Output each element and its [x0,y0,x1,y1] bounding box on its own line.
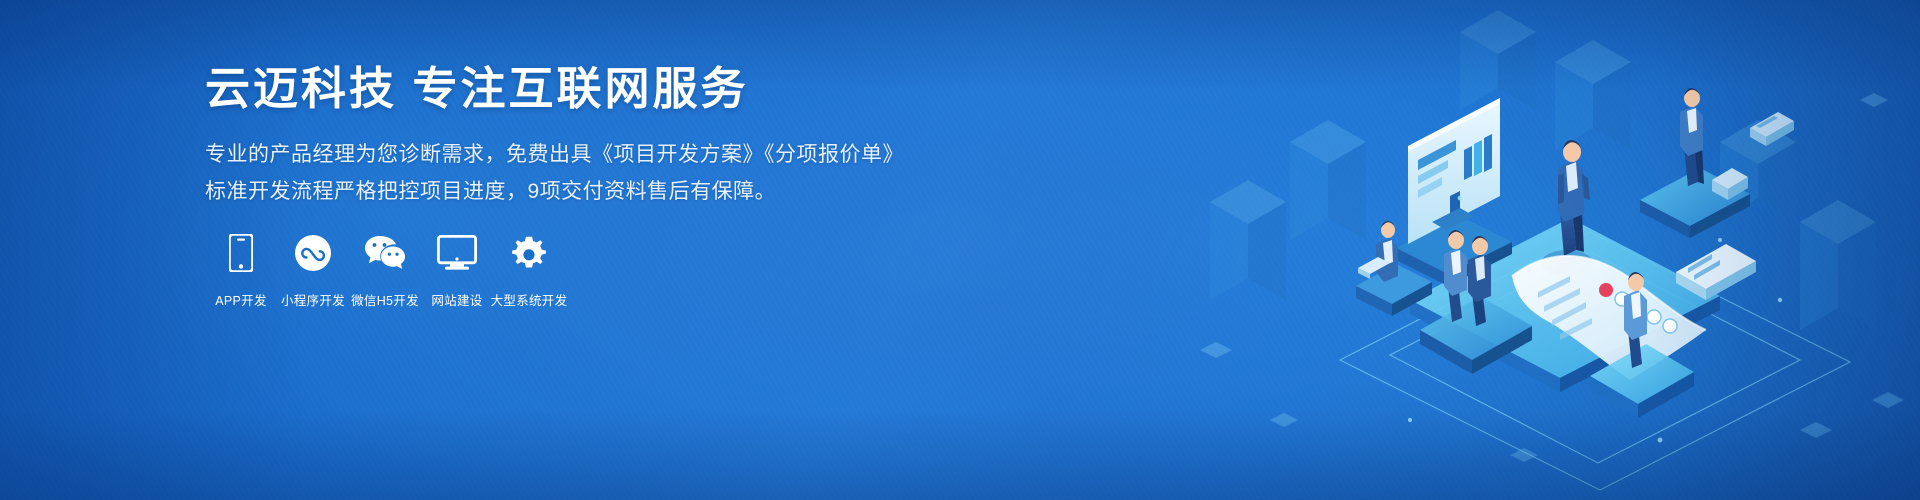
gear-icon [510,232,548,274]
service-label: 小程序开发 [281,290,345,309]
page-title: 云迈科技 专注互联网服务 [205,62,905,115]
service-item-website[interactable]: 网站建设 [421,232,493,309]
service-item-app[interactable]: APP开发 [205,232,277,309]
service-label: 微信H5开发 [351,290,419,309]
service-label: APP开发 [215,290,267,309]
wechat-icon [364,232,406,274]
mobile-phone-icon [229,232,253,274]
subtitle-line-2: 标准开发流程严格把控项目进度，9项交付资料售后有保障。 [205,174,905,211]
service-item-wechat-h5[interactable]: 微信H5开发 [349,232,421,309]
mini-program-icon [294,232,332,274]
isometric-team-dashboard-illustration [1160,0,1920,500]
banner-subtitle: 专业的产品经理为您诊断需求，免费出具《项目开发方案》《分项报价单》 标准开发流程… [205,137,905,211]
banner-content: 云迈科技 专注互联网服务 专业的产品经理为您诊断需求，免费出具《项目开发方案》《… [205,62,905,211]
service-label: 大型系统开发 [491,290,568,309]
subtitle-line-1: 专业的产品经理为您诊断需求，免费出具《项目开发方案》《分项报价单》 [205,137,905,174]
hero-banner: 云迈科技 专注互联网服务 专业的产品经理为您诊断需求，免费出具《项目开发方案》《… [0,0,1920,500]
service-item-large-system[interactable]: 大型系统开发 [493,232,565,309]
service-item-mini-program[interactable]: 小程序开发 [277,232,349,309]
service-label: 网站建设 [431,290,482,309]
service-list: APP开发 小程序开发 微信 [205,232,565,309]
monitor-icon [437,232,477,274]
